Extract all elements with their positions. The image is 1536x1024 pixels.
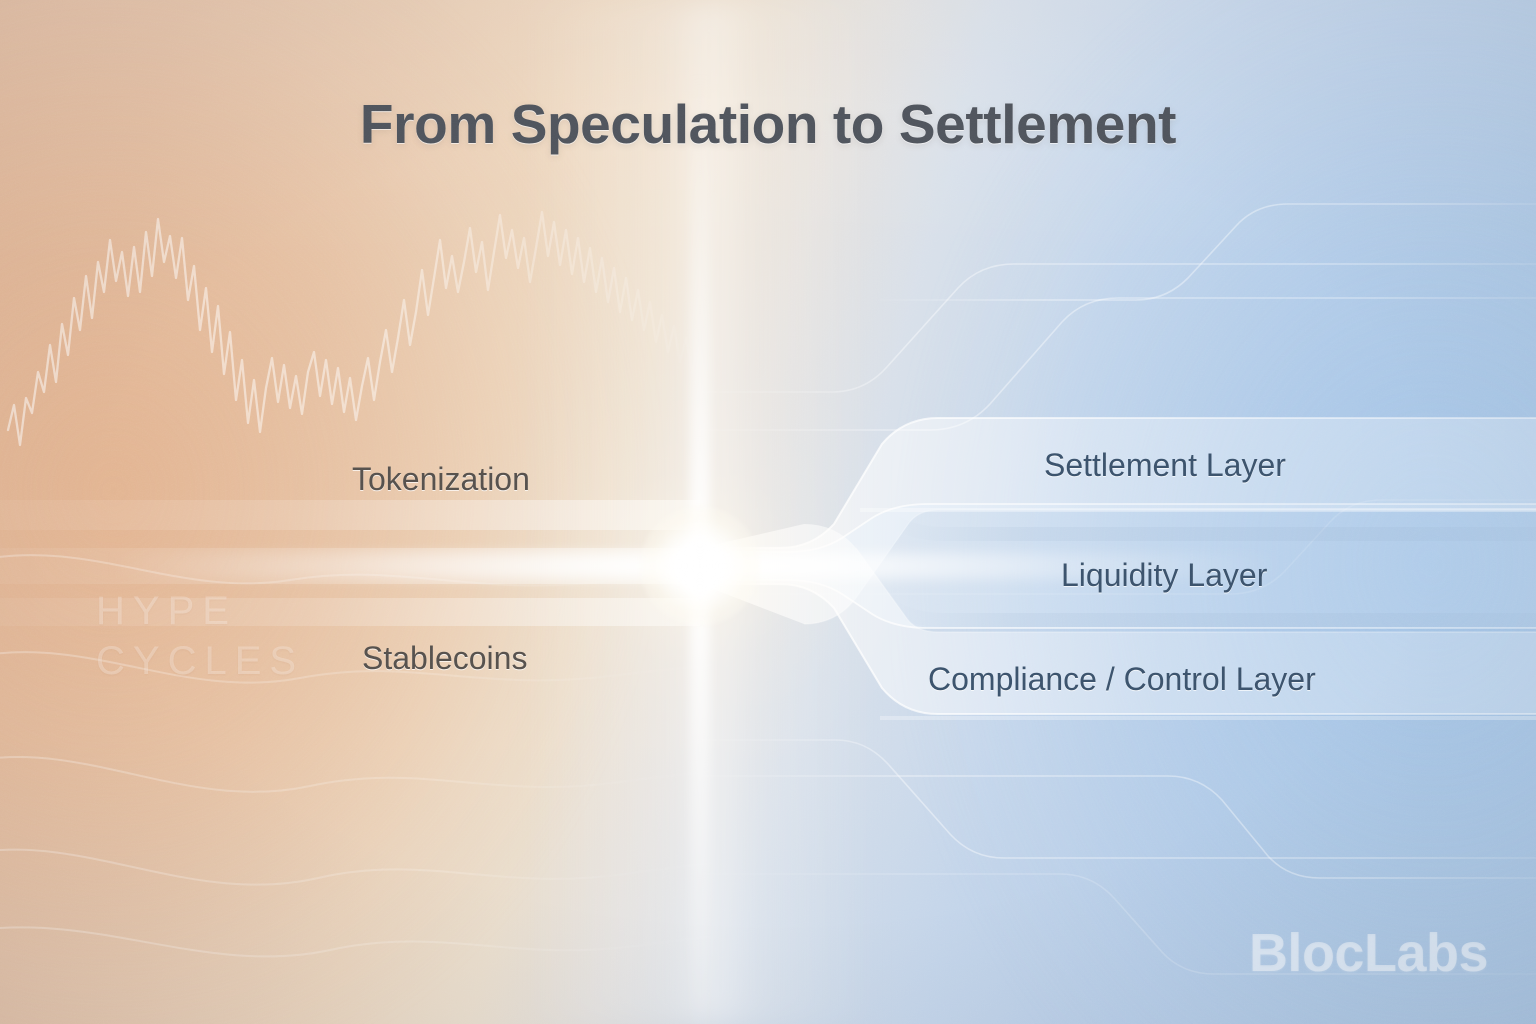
- page-title: From Speculation to Settlement: [0, 92, 1536, 156]
- right-output-label-settlement-layer: Settlement Layer: [1044, 447, 1286, 484]
- left-input-label-tokenization: Tokenization: [352, 461, 530, 498]
- burst-core-highlight: [640, 506, 760, 626]
- convergence-light-burst: [700, 566, 702, 568]
- left-input-label-stablecoins: Stablecoins: [362, 640, 527, 677]
- right-output-label-liquidity-layer: Liquidity Layer: [1061, 557, 1267, 594]
- right-output-label-compliance-control-layer: Compliance / Control Layer: [928, 661, 1316, 698]
- infographic-canvas: HYPE CYCLES: [0, 0, 1536, 1024]
- brand-watermark: BlocLabs: [1249, 922, 1488, 984]
